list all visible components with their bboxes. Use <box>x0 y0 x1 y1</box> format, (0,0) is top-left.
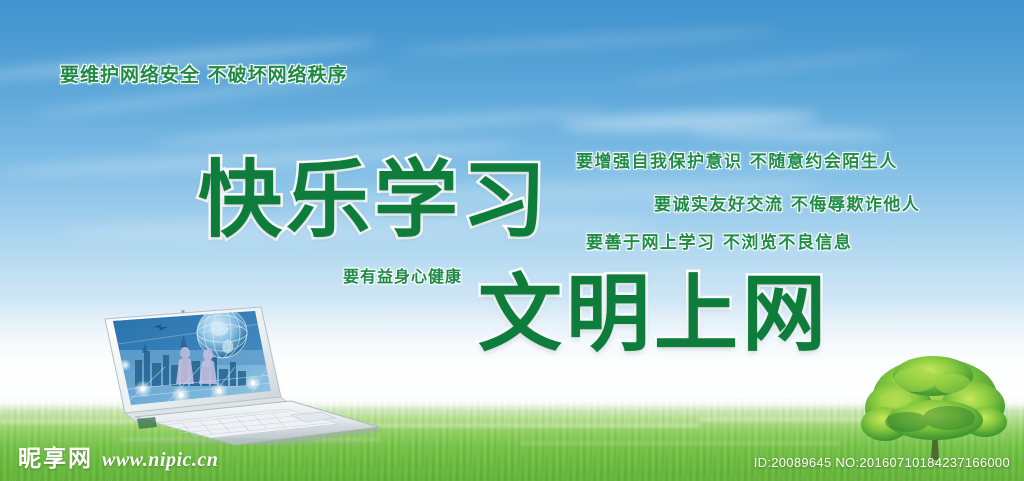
watermark-url: www.nipic.cn <box>102 449 218 472</box>
rule-line-1: 要增强自我保护意识 不随意约会陌生人 <box>576 147 898 172</box>
cloud-wisp <box>690 126 890 141</box>
top-slogan: 要维护网络安全 不破坏网络秩序 <box>60 60 348 87</box>
asset-id-code: ID:20089645 NO:20160710184237166000 <box>754 455 1010 470</box>
headline-secondary: 文明上网 <box>478 272 830 356</box>
health-slogan: 要有益身心健康 <box>343 263 462 287</box>
headline-primary: 快乐学习 <box>198 158 550 242</box>
cloud-wisp <box>620 46 919 87</box>
poster-canvas: 要维护网络安全 不破坏网络秩序 快乐学习 文明上网 要有益身心健康 要增强自我保… <box>0 0 1024 481</box>
laptop-illustration <box>95 305 385 445</box>
tree-illustration <box>845 352 1024 462</box>
watermark: 昵享网 www.nipic.cn <box>18 439 218 473</box>
cloud-wisp <box>150 104 610 150</box>
rule-line-3: 要善于网上学习 不浏览不良信息 <box>586 228 852 253</box>
rule-line-2: 要诚实友好交流 不侮辱欺诈他人 <box>654 190 920 215</box>
grass-highlight <box>520 442 840 445</box>
watermark-logo: 昵享网 <box>18 439 93 473</box>
cloud-wisp <box>400 26 780 57</box>
